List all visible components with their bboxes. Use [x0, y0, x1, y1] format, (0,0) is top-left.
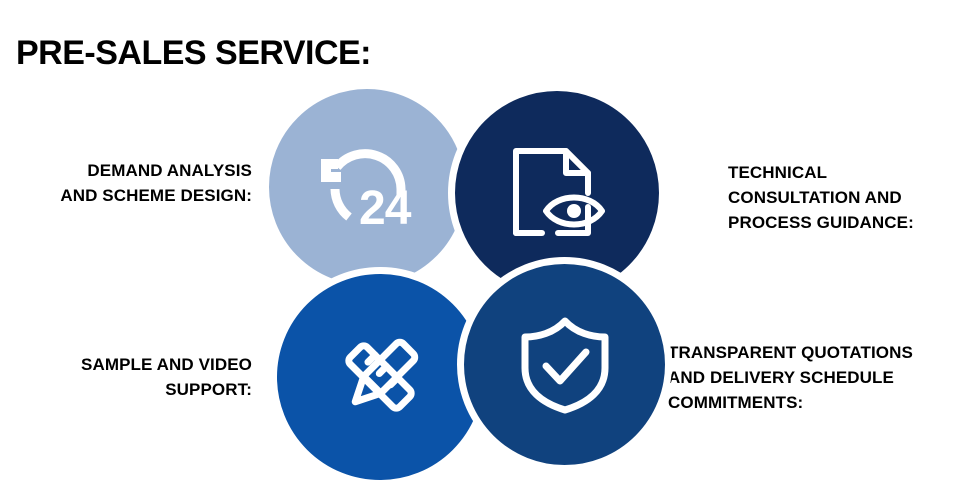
- circle-demand-analysis[interactable]: 24: [262, 82, 472, 292]
- label-transparent-quotations: TRANSPARENT QUOTATIONS AND DELIVERY SCHE…: [668, 340, 960, 415]
- shield-check-icon: [520, 316, 610, 414]
- circle-cluster: 24: [262, 82, 672, 488]
- label-demand-analysis: DEMAND ANALYSIS AND SCHEME DESIGN:: [0, 158, 252, 208]
- page-title: PRE-SALES SERVICE:: [16, 33, 371, 73]
- circle-transparent-quotations[interactable]: [457, 257, 672, 472]
- label-sample-video-support: SAMPLE AND VIDEO SUPPORT:: [0, 352, 252, 402]
- pencil-ruler-icon: [329, 327, 431, 427]
- 24-hour-rotate-icon: 24: [315, 137, 419, 237]
- document-eye-icon: [508, 145, 606, 241]
- label-technical-consultation: TECHNICAL CONSULTATION AND PROCESS GUIDA…: [728, 160, 960, 235]
- svg-text:24: 24: [359, 182, 412, 235]
